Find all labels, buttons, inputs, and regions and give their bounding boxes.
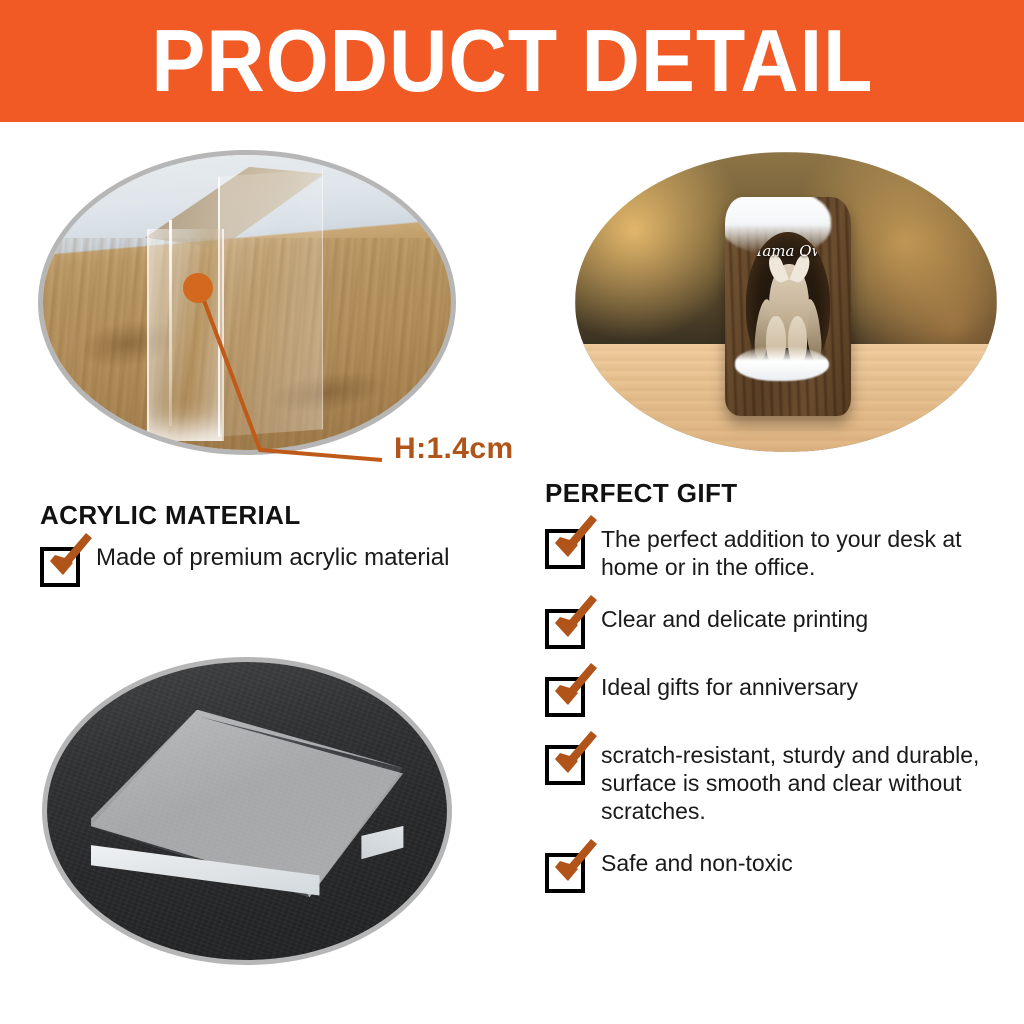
feature-list-perfect-gift: The perfect addition to your desk at hom… [545,525,1015,917]
checkmark-icon-glyph [548,734,604,784]
feature-item: Safe and non-toxic [545,849,1015,893]
acrylic-slab-highlight [169,220,172,427]
feature-text: Ideal gifts for anniversary [601,673,858,701]
checkmark-icon [545,529,585,569]
feature-item: The perfect addition to your desk at hom… [545,525,1015,581]
photo-acrylic-edge [38,150,456,455]
checkmark-icon-glyph [548,598,604,648]
feature-text: Made of premium acrylic material [96,543,449,572]
engraved-title-mama-owl: Mama Owl [746,242,830,260]
checkmark-icon-glyph [43,536,99,586]
feature-item: Clear and delicate printing [545,605,1015,649]
checkmark-icon-glyph [548,842,604,892]
feature-text: scratch-resistant, sturdy and durable, s… [601,741,1015,825]
feature-item: Made of premium acrylic material [40,543,510,587]
photo-acrylic-block [42,657,452,965]
feature-item: scratch-resistant, sturdy and durable, s… [545,741,1015,825]
slate-background [47,662,447,960]
checkmark-icon [545,745,585,785]
acrylic-slab-front-face [147,229,224,441]
height-measurement-label: H:1.4cm [394,432,514,466]
feature-text: Clear and delicate printing [601,605,868,633]
heading-acrylic-material: ACRYLIC MATERIAL [40,500,301,531]
checkmark-icon-glyph [548,666,604,716]
feature-item: Ideal gifts for anniversary [545,673,1015,717]
product-detail-banner: PRODUCT DETAIL [0,0,1024,122]
page-title: PRODUCT DETAIL [151,17,873,105]
photo-owl-product: Mama Owl Jack Emma [575,152,997,452]
feature-text: The perfect addition to your desk at hom… [601,525,1015,581]
acrylic-slab-side-face [218,169,323,436]
checkmark-icon [545,853,585,893]
snow-shelf [735,346,829,381]
owl-tree-hollow-figurine: Mama Owl Jack Emma [725,197,852,416]
checkmark-icon [545,677,585,717]
feature-list-acrylic-material: Made of premium acrylic material [40,543,510,611]
heading-perfect-gift: PERFECT GIFT [545,478,738,509]
checkmark-icon [545,609,585,649]
checkmark-icon [40,547,80,587]
feature-text: Safe and non-toxic [601,849,793,877]
checkmark-icon-glyph [548,518,604,568]
wood-floor-background [43,155,451,450]
